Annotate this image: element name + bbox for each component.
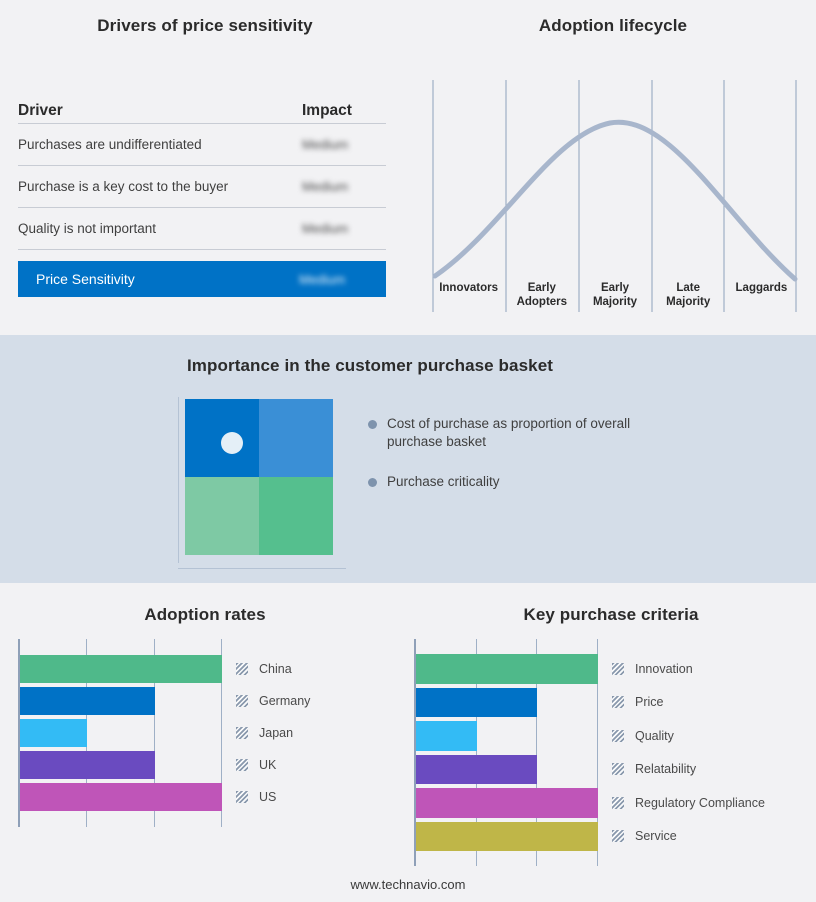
legend-label: UK: [259, 758, 276, 772]
stage-line2: Laggards: [725, 282, 798, 296]
summary-impact-redacted: Medium: [299, 272, 345, 287]
stage-line1: Early: [578, 282, 651, 296]
drivers-table: Driver Impact Purchases are undifferenti…: [18, 88, 386, 297]
bullet-icon: [368, 478, 377, 487]
stage-label-early-adopters: Early Adopters: [505, 282, 578, 312]
key-purchase-criteria-chart: InnovationPriceQualityRelatabilityRegula…: [414, 639, 765, 866]
adoption-rates-chart: ChinaGermanyJapanUKUS: [18, 639, 310, 827]
legend-swatch-icon: [236, 727, 248, 739]
legend-item: UK: [236, 749, 310, 781]
legend-label: Regulatory Compliance: [635, 796, 765, 810]
table-row: Purchase is a key cost to the buyer Medi…: [18, 166, 386, 208]
legend-label: Relatability: [635, 762, 696, 776]
impact-value: Medium: [302, 137, 386, 152]
key-purchase-criteria-title: Key purchase criteria: [406, 605, 816, 625]
legend-label: Purchase criticality: [387, 473, 500, 491]
quadrant-matrix: [178, 397, 350, 569]
legend-item: Innovation: [612, 652, 765, 686]
importance-panel: Importance in the customer purchase bask…: [0, 335, 816, 583]
legend-swatch-icon: [612, 797, 624, 809]
legend-item: Quality: [612, 719, 765, 753]
legend-label: Innovation: [635, 662, 693, 676]
quadrant-x-axis: [178, 568, 346, 569]
bar-row: [416, 753, 598, 787]
stage-line2: Majority: [652, 296, 725, 310]
legend-item: Japan: [236, 717, 310, 749]
impact-value-redacted: Medium: [302, 137, 348, 152]
stage-line1: Late: [652, 282, 725, 296]
bar: [20, 751, 155, 779]
impact-value: Medium: [302, 179, 386, 194]
lifecycle-curve-svg: [432, 80, 798, 312]
legend-label: Quality: [635, 729, 674, 743]
bars-container: [20, 653, 222, 813]
stage-label-laggards: Laggards: [725, 282, 798, 312]
importance-legend: Cost of purchase as proportion of overal…: [368, 415, 668, 513]
legend-item: Service: [612, 820, 765, 854]
stage-label-late-majority: Late Majority: [652, 282, 725, 312]
column-header-impact: Impact: [299, 102, 386, 120]
quadrant-grid: [185, 399, 333, 555]
footer-url: www.technavio.com: [0, 877, 816, 892]
legend-swatch-icon: [236, 663, 248, 675]
legend-label: Japan: [259, 726, 293, 740]
drivers-table-header: Driver Impact: [18, 88, 386, 124]
legend-swatch-icon: [612, 830, 624, 842]
lifecycle-title: Adoption lifecycle: [410, 16, 816, 36]
bar-row: [20, 781, 222, 813]
summary-label: Price Sensitivity: [36, 271, 299, 287]
quadrant-top-right: [259, 399, 333, 477]
bar: [416, 788, 598, 818]
bar-row: [416, 786, 598, 820]
stage-line2: Majority: [578, 296, 651, 310]
drivers-title: Drivers of price sensitivity: [0, 16, 410, 36]
key-purchase-criteria-panel: Key purchase criteria InnovationPriceQua…: [406, 583, 816, 902]
lifecycle-chart: Innovators Early Adopters Early Majority…: [432, 80, 798, 312]
driver-label: Quality is not important: [18, 221, 302, 236]
stage-label-early-majority: Early Majority: [578, 282, 651, 312]
bar: [20, 719, 87, 747]
bar: [416, 688, 537, 718]
stage-line2: Innovators: [432, 282, 505, 296]
legend-swatch-icon: [236, 759, 248, 771]
impact-value: Medium: [302, 221, 386, 236]
quadrant-bottom-right: [259, 477, 333, 555]
bar: [20, 687, 155, 715]
driver-label: Purchase is a key cost to the buyer: [18, 179, 302, 194]
bar-row: [416, 686, 598, 720]
bar-row: [416, 719, 598, 753]
bar-row: [20, 653, 222, 685]
legend-item: China: [236, 653, 310, 685]
price-sensitivity-summary-row: Price Sensitivity Medium: [18, 261, 386, 297]
plot-area: [414, 639, 598, 866]
stage-label-innovators: Innovators: [432, 282, 505, 312]
legend-swatch-icon: [612, 663, 624, 675]
legend-swatch-icon: [236, 791, 248, 803]
legend-label: Service: [635, 829, 677, 843]
legend-swatch-icon: [612, 763, 624, 775]
bar: [416, 822, 598, 852]
adoption-rates-title: Adoption rates: [0, 605, 410, 625]
list-item: Purchase criticality: [368, 473, 668, 491]
lifecycle-gridlines: [433, 80, 796, 312]
adoption-bell-curve: [435, 122, 795, 279]
drivers-panel: Drivers of price sensitivity Driver Impa…: [0, 0, 410, 335]
bar-row: [20, 685, 222, 717]
adoption-rates-panel: Adoption rates ChinaGermanyJapanUKUS: [0, 583, 410, 902]
table-row: Quality is not important Medium: [18, 208, 386, 250]
quadrant-bottom-left: [185, 477, 259, 555]
bar-row: [20, 717, 222, 749]
bar: [20, 783, 222, 811]
legend-item: Germany: [236, 685, 310, 717]
bar: [416, 654, 598, 684]
bar-row: [416, 652, 598, 686]
legend-item: Price: [612, 686, 765, 720]
legend-item: Regulatory Compliance: [612, 786, 765, 820]
legend-item: Relatability: [612, 753, 765, 787]
list-item: Cost of purchase as proportion of overal…: [368, 415, 668, 451]
bullet-icon: [368, 420, 377, 429]
stage-line1: Early: [505, 282, 578, 296]
legend-label: Cost of purchase as proportion of overal…: [387, 415, 647, 451]
legend-label: US: [259, 790, 276, 804]
legend-label: China: [259, 662, 292, 676]
impact-value-redacted: Medium: [302, 179, 348, 194]
table-row: Purchases are undifferentiated Medium: [18, 124, 386, 166]
impact-value-redacted: Medium: [302, 221, 348, 236]
importance-title: Importance in the customer purchase bask…: [0, 356, 740, 376]
lifecycle-panel: Adoption lifecycle Innovators Early Adop…: [410, 0, 816, 335]
driver-label: Purchases are undifferentiated: [18, 137, 302, 152]
bar: [416, 755, 537, 785]
summary-impact-value: Medium: [299, 272, 386, 287]
legend-label: Germany: [259, 694, 310, 708]
legend-swatch-icon: [236, 695, 248, 707]
bar-row: [20, 749, 222, 781]
quadrant-y-axis: [178, 397, 179, 563]
bar-row: [416, 820, 598, 854]
legend-label: Price: [635, 695, 663, 709]
bars-container: [416, 652, 598, 853]
lifecycle-stage-labels: Innovators Early Adopters Early Majority…: [432, 282, 798, 312]
chart-legend: InnovationPriceQualityRelatabilityRegula…: [598, 639, 765, 866]
bar: [416, 721, 477, 751]
legend-swatch-icon: [612, 696, 624, 708]
stage-line2: Adopters: [505, 296, 578, 310]
bar: [20, 655, 222, 683]
position-marker-dot: [221, 432, 243, 454]
legend-swatch-icon: [612, 730, 624, 742]
column-header-driver: Driver: [18, 102, 299, 120]
chart-legend: ChinaGermanyJapanUKUS: [222, 639, 310, 827]
plot-area: [18, 639, 222, 827]
legend-item: US: [236, 781, 310, 813]
